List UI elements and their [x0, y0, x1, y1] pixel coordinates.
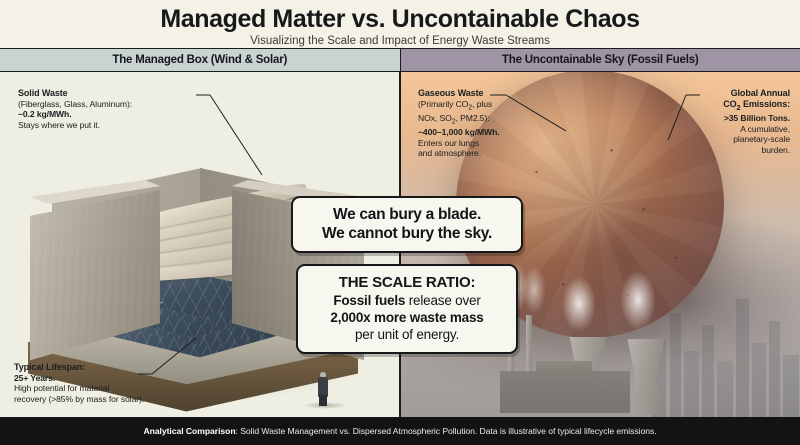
solid-waste-line3: Stays where we put it. — [18, 120, 208, 131]
footer-label: Analytical Comparison — [143, 426, 235, 436]
annotation-global-emissions: Global Annual CO2 Emissions: >35 Billion… — [672, 88, 790, 155]
lifespan-line3: recovery (>85% by mass for solar). — [14, 394, 214, 405]
ratio-line1-bold: Fossil fuels — [333, 293, 405, 308]
annotation-lifespan: Typical Lifespan: 25+ Years. High potent… — [14, 362, 214, 404]
global-line2a: CO — [723, 99, 736, 109]
lifespan-line2: High potential for material — [14, 383, 214, 394]
global-line5: planetary-scale — [672, 134, 790, 145]
solid-waste-heading: Solid Waste — [18, 88, 208, 99]
infographic-poster: Managed Matter vs. Uncontainable Chaos V… — [0, 0, 800, 445]
gaseous-waste-heading: Gaseous Waste — [418, 88, 568, 99]
global-line4: A cumulative, — [672, 124, 790, 135]
solid-waste-line1: (Fiberglass, Glass, Aluminum): — [18, 99, 208, 110]
lifespan-value: 25+ Years. — [14, 373, 55, 383]
solid-waste-value: ~0.2 kg/MWh. — [18, 109, 71, 119]
gaseous-line1b: , plus — [472, 99, 492, 109]
global-line2b: Emissions: — [741, 99, 790, 109]
callout-quote: We can bury a blade. We cannot bury the … — [291, 196, 523, 253]
lifespan-heading: Typical Lifespan: — [14, 362, 214, 373]
footer-text: Analytical Comparison: Solid Waste Manag… — [143, 426, 656, 436]
footer-body: : Solid Waste Management vs. Dispersed A… — [236, 426, 657, 436]
gaseous-line2b: , PM2.5): — [456, 113, 490, 123]
gaseous-line1a: (Primarily CO — [418, 99, 468, 109]
ratio-line2-bold: 2,000x more waste mass — [330, 310, 483, 325]
gaseous-waste-value: ~400–1,000 kg/MWh. — [418, 127, 500, 137]
ratio-line1-rest: release over — [405, 293, 480, 308]
gaseous-line4: Enters our lungs — [418, 138, 568, 149]
global-line1: Global Annual — [672, 88, 790, 99]
gaseous-line2a: NOx, SO — [418, 113, 452, 123]
global-emissions-value: >35 Billion Tons. — [724, 113, 790, 123]
gaseous-line5: and atmosphere. — [418, 148, 568, 159]
ratio-heading: THE SCALE RATIO: — [308, 274, 506, 292]
callout-scale-ratio: THE SCALE RATIO: Fossil fuels release ov… — [296, 264, 518, 354]
annotation-solid-waste: Solid Waste (Fiberglass, Glass, Aluminum… — [18, 88, 208, 130]
quote-line2: We cannot bury the sky. — [303, 224, 511, 243]
annotation-gaseous-waste: Gaseous Waste (Primarily CO2, plus NOx, … — [418, 88, 568, 159]
global-line6: burden. — [672, 145, 790, 156]
footer-bar: Analytical Comparison: Solid Waste Manag… — [0, 417, 800, 445]
quote-line1: We can bury a blade. — [303, 205, 511, 224]
ratio-line3: per unit of energy. — [308, 326, 506, 343]
